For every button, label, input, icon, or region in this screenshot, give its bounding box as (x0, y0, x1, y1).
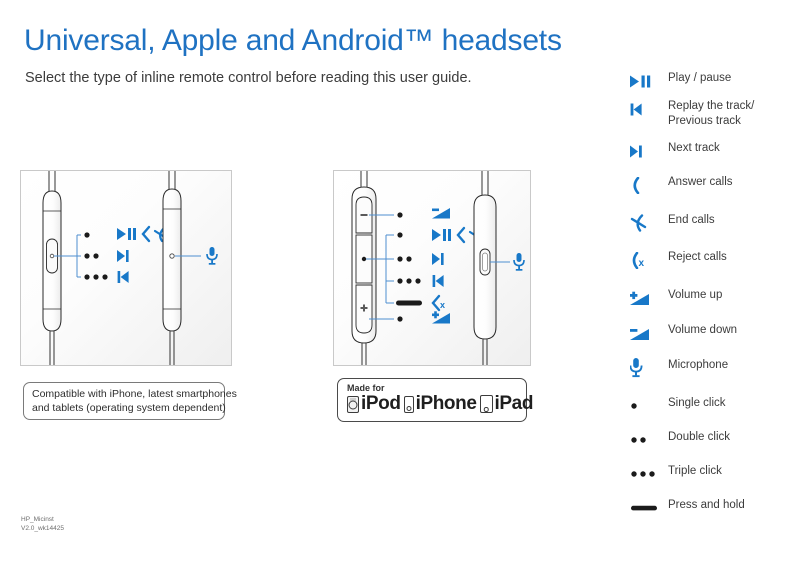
legend-row-reject-calls: x Reject calls (630, 249, 798, 287)
legend-label: Next track (668, 140, 720, 156)
volume-up-icon (630, 287, 668, 308)
legend-label: Reject calls (668, 249, 727, 265)
row-icon-volume-down (432, 208, 450, 219)
next-track-icon (630, 140, 668, 161)
row-icon-play-pause (432, 229, 451, 241)
legend-row-volume-down: Volume down (630, 322, 798, 357)
footer: HP_Micinst V2.0_wk14425 (21, 516, 64, 533)
svg-text:x: x (440, 300, 445, 310)
badge-item-iphone: iPhone (404, 394, 477, 414)
row-icon-next-track (432, 253, 444, 265)
click-dots-left (84, 232, 107, 279)
badge-word-ipad: iPad (495, 394, 534, 414)
legend-label: Press and hold (668, 497, 745, 513)
triple-click-icon (630, 463, 668, 484)
legend-row-press-and-hold: Press and hold (630, 497, 798, 527)
made-for-label: Made for (347, 383, 518, 393)
ipad-device-icon (480, 395, 493, 413)
legend-row-play-pause: Play / pause (630, 70, 798, 98)
made-for-apple-badge: Made for iPod iPhone iPad (337, 378, 527, 422)
press-and-hold-icon (630, 497, 668, 518)
svg-text:x: x (639, 258, 645, 269)
legend-row-answer-calls: Answer calls (630, 174, 798, 212)
page-title: Universal, Apple and Android™ headsets (24, 24, 562, 58)
legend-row-double-click: Double click (630, 429, 798, 463)
badge-item-ipod: iPod (347, 394, 401, 414)
legend-row-triple-click: Triple click (630, 463, 798, 497)
page-subtitle: Select the type of inline remote control… (25, 70, 472, 86)
legend-row-next-track: Next track (630, 140, 798, 174)
volume-down-icon (630, 322, 668, 343)
apple-mic-body (474, 195, 496, 339)
apple-headset-diagram[interactable]: x (333, 170, 531, 366)
click-dots-apple (396, 212, 422, 321)
legend-row-single-click: Single click (630, 395, 798, 429)
footer-line2: V2.0_wk14425 (21, 525, 64, 534)
row-icon-microphone (514, 253, 524, 271)
single-click-icon (630, 395, 668, 416)
legend-label: Triple click (668, 463, 722, 479)
ipod-device-icon (347, 396, 359, 413)
press-hold-bar (396, 301, 422, 306)
legend: Play / pause Replay the track/ Previous … (630, 70, 798, 527)
row-icon-previous-track (118, 271, 129, 283)
microphone-icon (630, 357, 668, 378)
legend-label: Double click (668, 429, 730, 445)
universal-caption-line2: and tablets (operating system dependent) (32, 402, 216, 416)
legend-label: Answer calls (668, 174, 733, 190)
footer-line1: HP_Micinst (21, 516, 64, 525)
row-icon-previous-track (433, 275, 444, 287)
row-icon-volume-up (432, 311, 450, 323)
answer-call-icon (630, 174, 668, 195)
user-guide-page: Universal, Apple and Android™ headsets S… (0, 0, 802, 566)
legend-label: Replay the track/ Previous track (668, 98, 754, 129)
legend-label: Single click (668, 395, 726, 411)
universal-caption-box: Compatible with iPhone, latest smartphon… (23, 382, 225, 420)
previous-track-icon (630, 98, 668, 119)
row-icon-answer-call (458, 228, 464, 242)
legend-label: Play / pause (668, 70, 731, 86)
iphone-device-icon (404, 396, 414, 413)
double-click-icon (630, 429, 668, 450)
legend-label: End calls (668, 212, 715, 228)
legend-label: Volume down (668, 322, 737, 338)
badge-word-iphone: iPhone (416, 394, 477, 414)
row-icon-answer-call (143, 227, 149, 241)
row-icon-reject-call: x (433, 296, 445, 310)
row-icon-play-pause (117, 228, 136, 240)
universal-headset-diagram[interactable] (20, 170, 232, 366)
legend-label: Microphone (668, 357, 728, 373)
legend-row-previous-track: Replay the track/ Previous track (630, 98, 798, 140)
badge-word-ipod: iPod (361, 394, 401, 414)
legend-row-end-calls: End calls (630, 212, 798, 249)
legend-label: Volume up (668, 287, 722, 303)
legend-row-microphone: Microphone (630, 357, 798, 395)
apple-remote-body (352, 187, 376, 343)
universal-remote-body (43, 191, 61, 331)
badge-item-ipad: iPad (480, 394, 534, 414)
end-call-icon (630, 212, 668, 233)
play-pause-icon (630, 70, 668, 91)
universal-mic-body (163, 189, 181, 331)
row-icon-next-track (117, 250, 129, 262)
legend-row-volume-up: Volume up (630, 287, 798, 322)
reject-call-icon: x (630, 249, 668, 270)
row-icon-microphone (207, 247, 217, 265)
universal-caption-line1: Compatible with iPhone, latest smartphon… (32, 388, 216, 402)
